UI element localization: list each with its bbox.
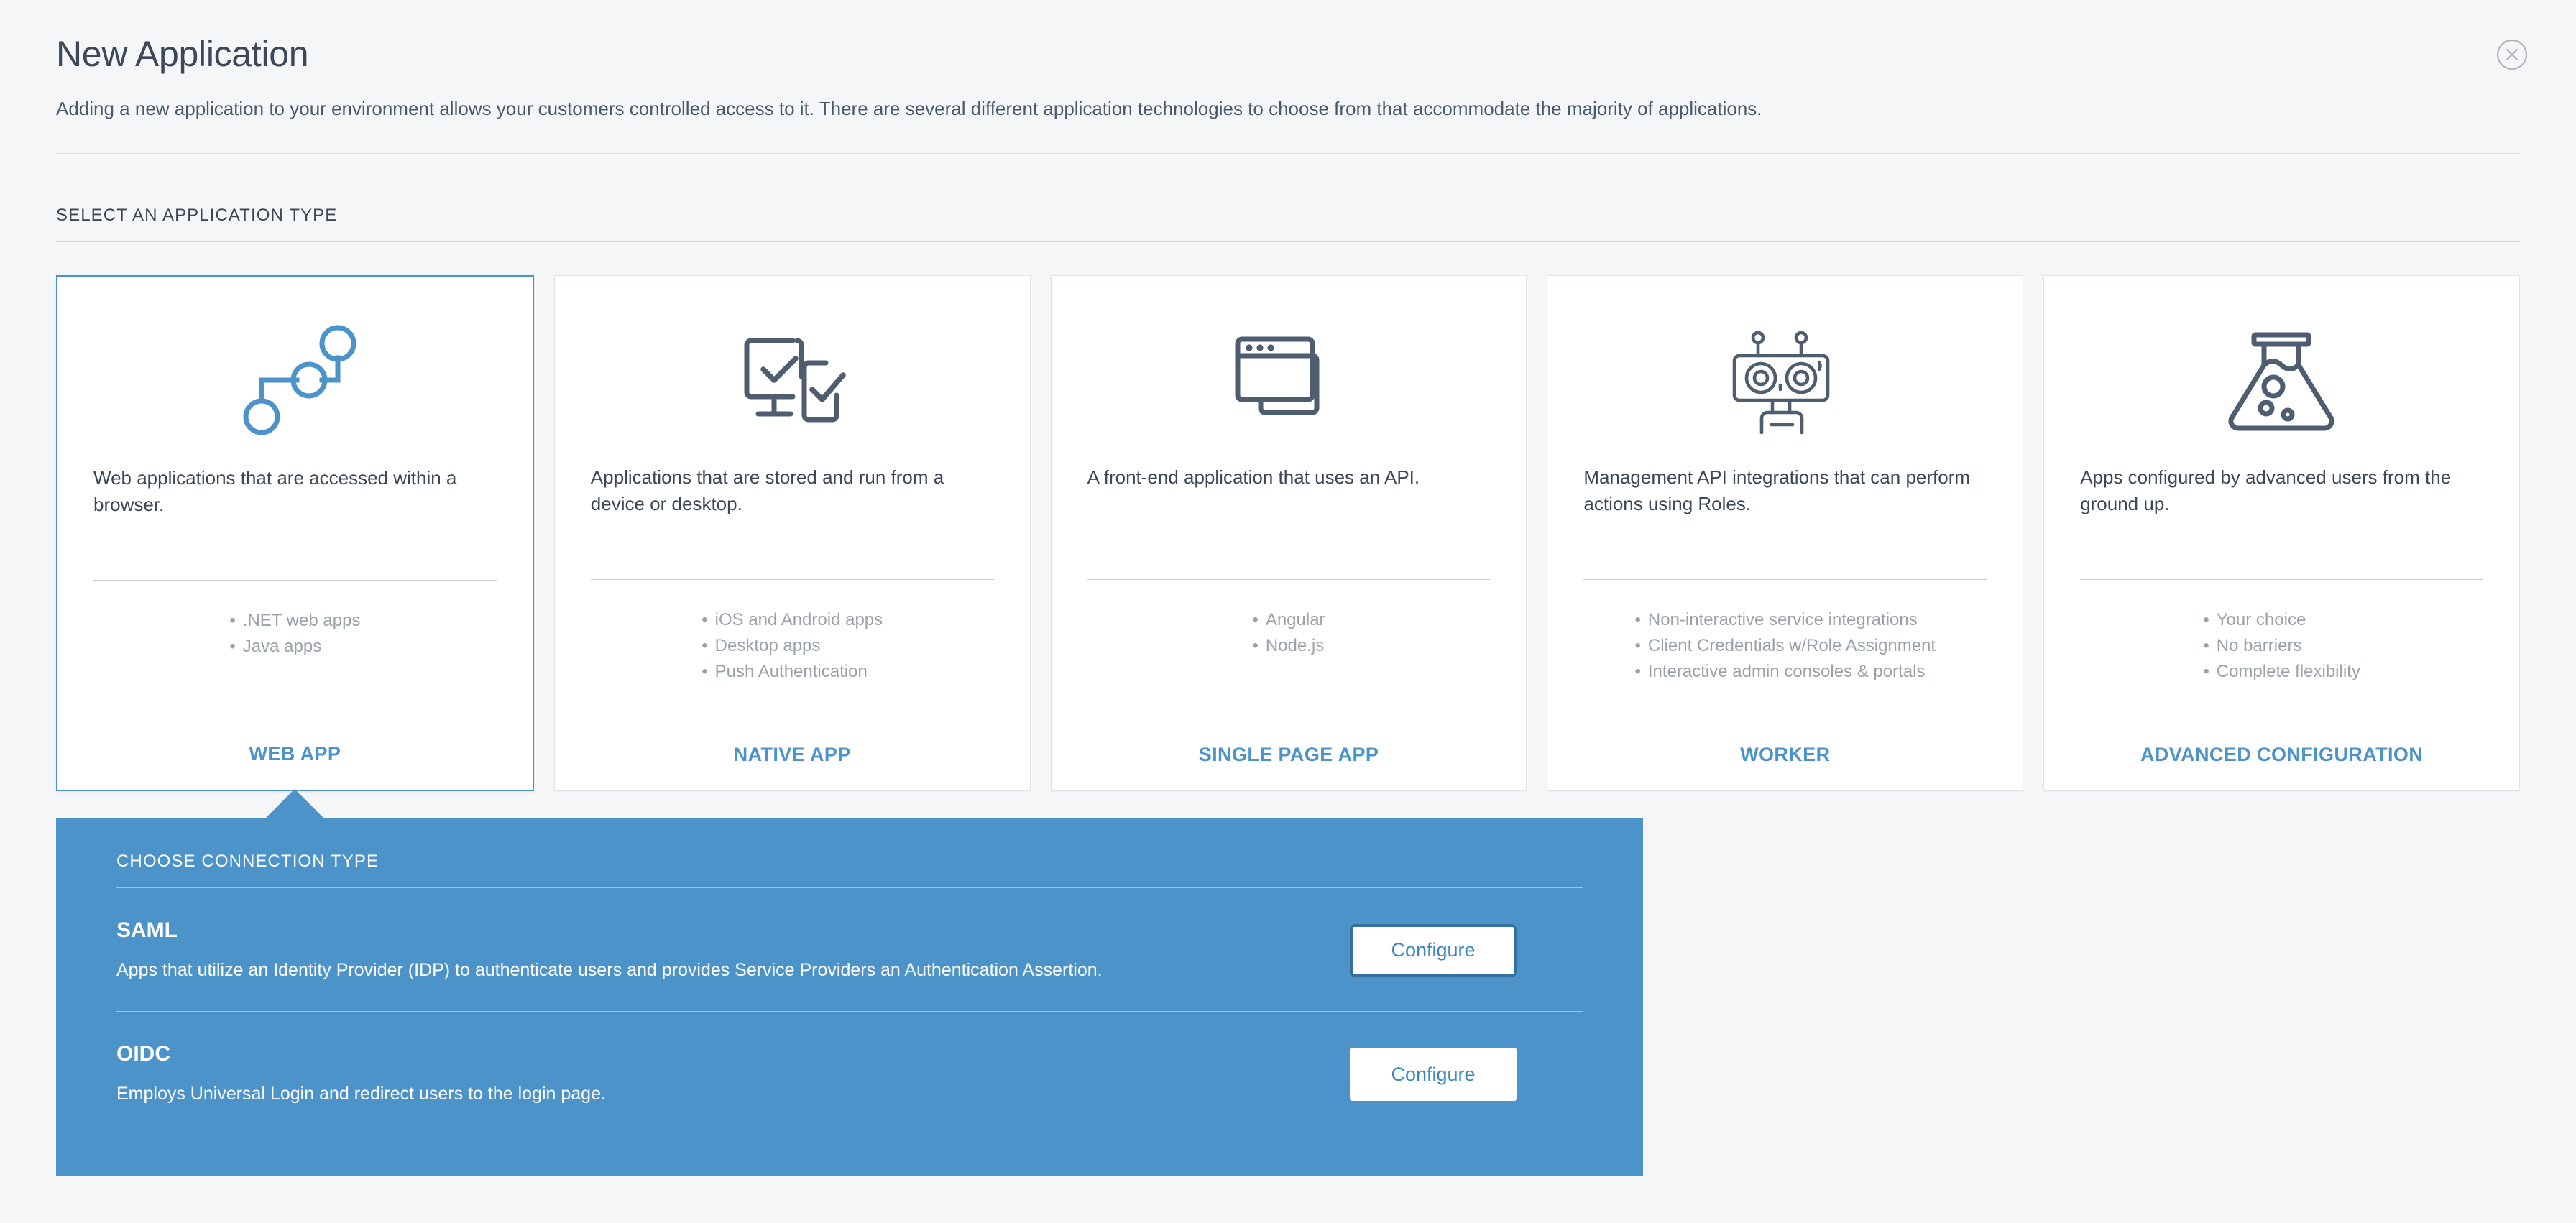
card-bullet-list: .NET web apps Java apps: [93, 608, 497, 724]
network-nodes-icon: [93, 310, 497, 453]
card-cta-single-page-app[interactable]: SINGLE PAGE APP: [1087, 744, 1491, 766]
list-item: Complete flexibility: [2203, 659, 2360, 685]
connection-description: Apps that utilize an Identity Provider (…: [116, 959, 1321, 983]
header-divider: [56, 153, 2520, 154]
browser-windows-icon: [1087, 309, 1491, 453]
desktop-and-device-check-icon: [591, 309, 994, 453]
connection-text: OIDC Employs Universal Login and redirec…: [116, 1042, 1350, 1107]
list-item: Client Credentials w/Role Assignment: [1634, 633, 1936, 659]
list-item: Desktop apps: [701, 633, 883, 659]
application-type-cards: Web applications that are accessed withi…: [56, 275, 2520, 791]
configure-button-oidc[interactable]: Configure: [1350, 1048, 1517, 1101]
card-description: A front-end application that uses an API…: [1087, 464, 1491, 545]
flask-icon: [2080, 309, 2483, 453]
connection-text: SAML Apps that utilize an Identity Provi…: [116, 918, 1350, 983]
connection-name: SAML: [116, 918, 1321, 943]
list-item: Your choice: [2203, 607, 2360, 633]
list-item: iOS and Android apps: [701, 607, 883, 633]
card-divider: [591, 579, 994, 580]
configure-button-saml[interactable]: Configure: [1350, 924, 1517, 977]
card-bullet-list: Your choice No barriers Complete flexibi…: [2080, 607, 2483, 725]
connection-description: Employs Universal Login and redirect use…: [116, 1082, 1321, 1107]
list-item: Angular: [1252, 607, 1325, 633]
list-item: Push Authentication: [701, 659, 883, 685]
connection-panel-title: CHOOSE CONNECTION TYPE: [96, 852, 1603, 872]
app-type-card-web-app[interactable]: Web applications that are accessed withi…: [56, 275, 534, 791]
page-title: New Application: [56, 34, 2520, 74]
list-item: .NET web apps: [229, 608, 360, 634]
connection-name: OIDC: [116, 1042, 1321, 1066]
card-description: Web applications that are accessed withi…: [93, 465, 497, 545]
robot-icon: [1583, 309, 1987, 453]
list-item: Java apps: [229, 634, 360, 660]
list-item: Node.js: [1252, 633, 1325, 659]
card-description: Apps configured by advanced users from t…: [2080, 464, 2483, 545]
list-item: No barriers: [2203, 633, 2360, 659]
application-type-section: SELECT AN APPLICATION TYPE: [0, 206, 2576, 1176]
page-subtitle: Adding a new application to your environ…: [56, 96, 2520, 123]
connection-row-oidc: OIDC Employs Universal Login and redirec…: [96, 1012, 1603, 1135]
card-divider: [2080, 579, 2483, 580]
card-description: Management API integrations that can per…: [1583, 464, 1987, 545]
new-application-page: New Application Adding a new application…: [0, 0, 2576, 1223]
card-divider: [93, 580, 497, 581]
app-type-card-worker[interactable]: Management API integrations that can per…: [1547, 275, 2023, 791]
connection-row-saml: SAML Apps that utilize an Identity Provi…: [96, 888, 1603, 1012]
app-type-card-advanced-configuration[interactable]: Apps configured by advanced users from t…: [2043, 275, 2520, 791]
card-bullet-list: Non-interactive service integrations Cli…: [1583, 607, 1987, 725]
page-header: New Application Adding a new application…: [0, 0, 2576, 154]
card-divider: [1583, 579, 1987, 580]
list-item: Non-interactive service integrations: [1634, 607, 1936, 633]
card-description: Applications that are stored and run fro…: [591, 464, 994, 545]
list-item: Interactive admin consoles & portals: [1634, 659, 1936, 685]
close-circle-icon[interactable]: [2495, 38, 2529, 71]
app-type-card-single-page-app[interactable]: A front-end application that uses an API…: [1051, 275, 1527, 791]
section-divider: [56, 241, 2520, 242]
choose-connection-type-panel: CHOOSE CONNECTION TYPE SAML Apps that ut…: [56, 818, 1643, 1176]
card-cta-advanced-configuration[interactable]: ADVANCED CONFIGURATION: [2080, 744, 2483, 766]
card-divider: [1087, 579, 1491, 580]
selected-card-pointer: [266, 789, 323, 818]
card-cta-web-app[interactable]: WEB APP: [93, 743, 497, 765]
card-cta-native-app[interactable]: NATIVE APP: [591, 744, 994, 766]
section-label: SELECT AN APPLICATION TYPE: [56, 206, 2520, 226]
app-type-card-native-app[interactable]: Applications that are stored and run fro…: [554, 275, 1031, 791]
card-bullet-list: Angular Node.js: [1087, 607, 1491, 725]
card-cta-worker[interactable]: WORKER: [1583, 744, 1987, 766]
card-bullet-list: iOS and Android apps Desktop apps Push A…: [591, 607, 994, 725]
